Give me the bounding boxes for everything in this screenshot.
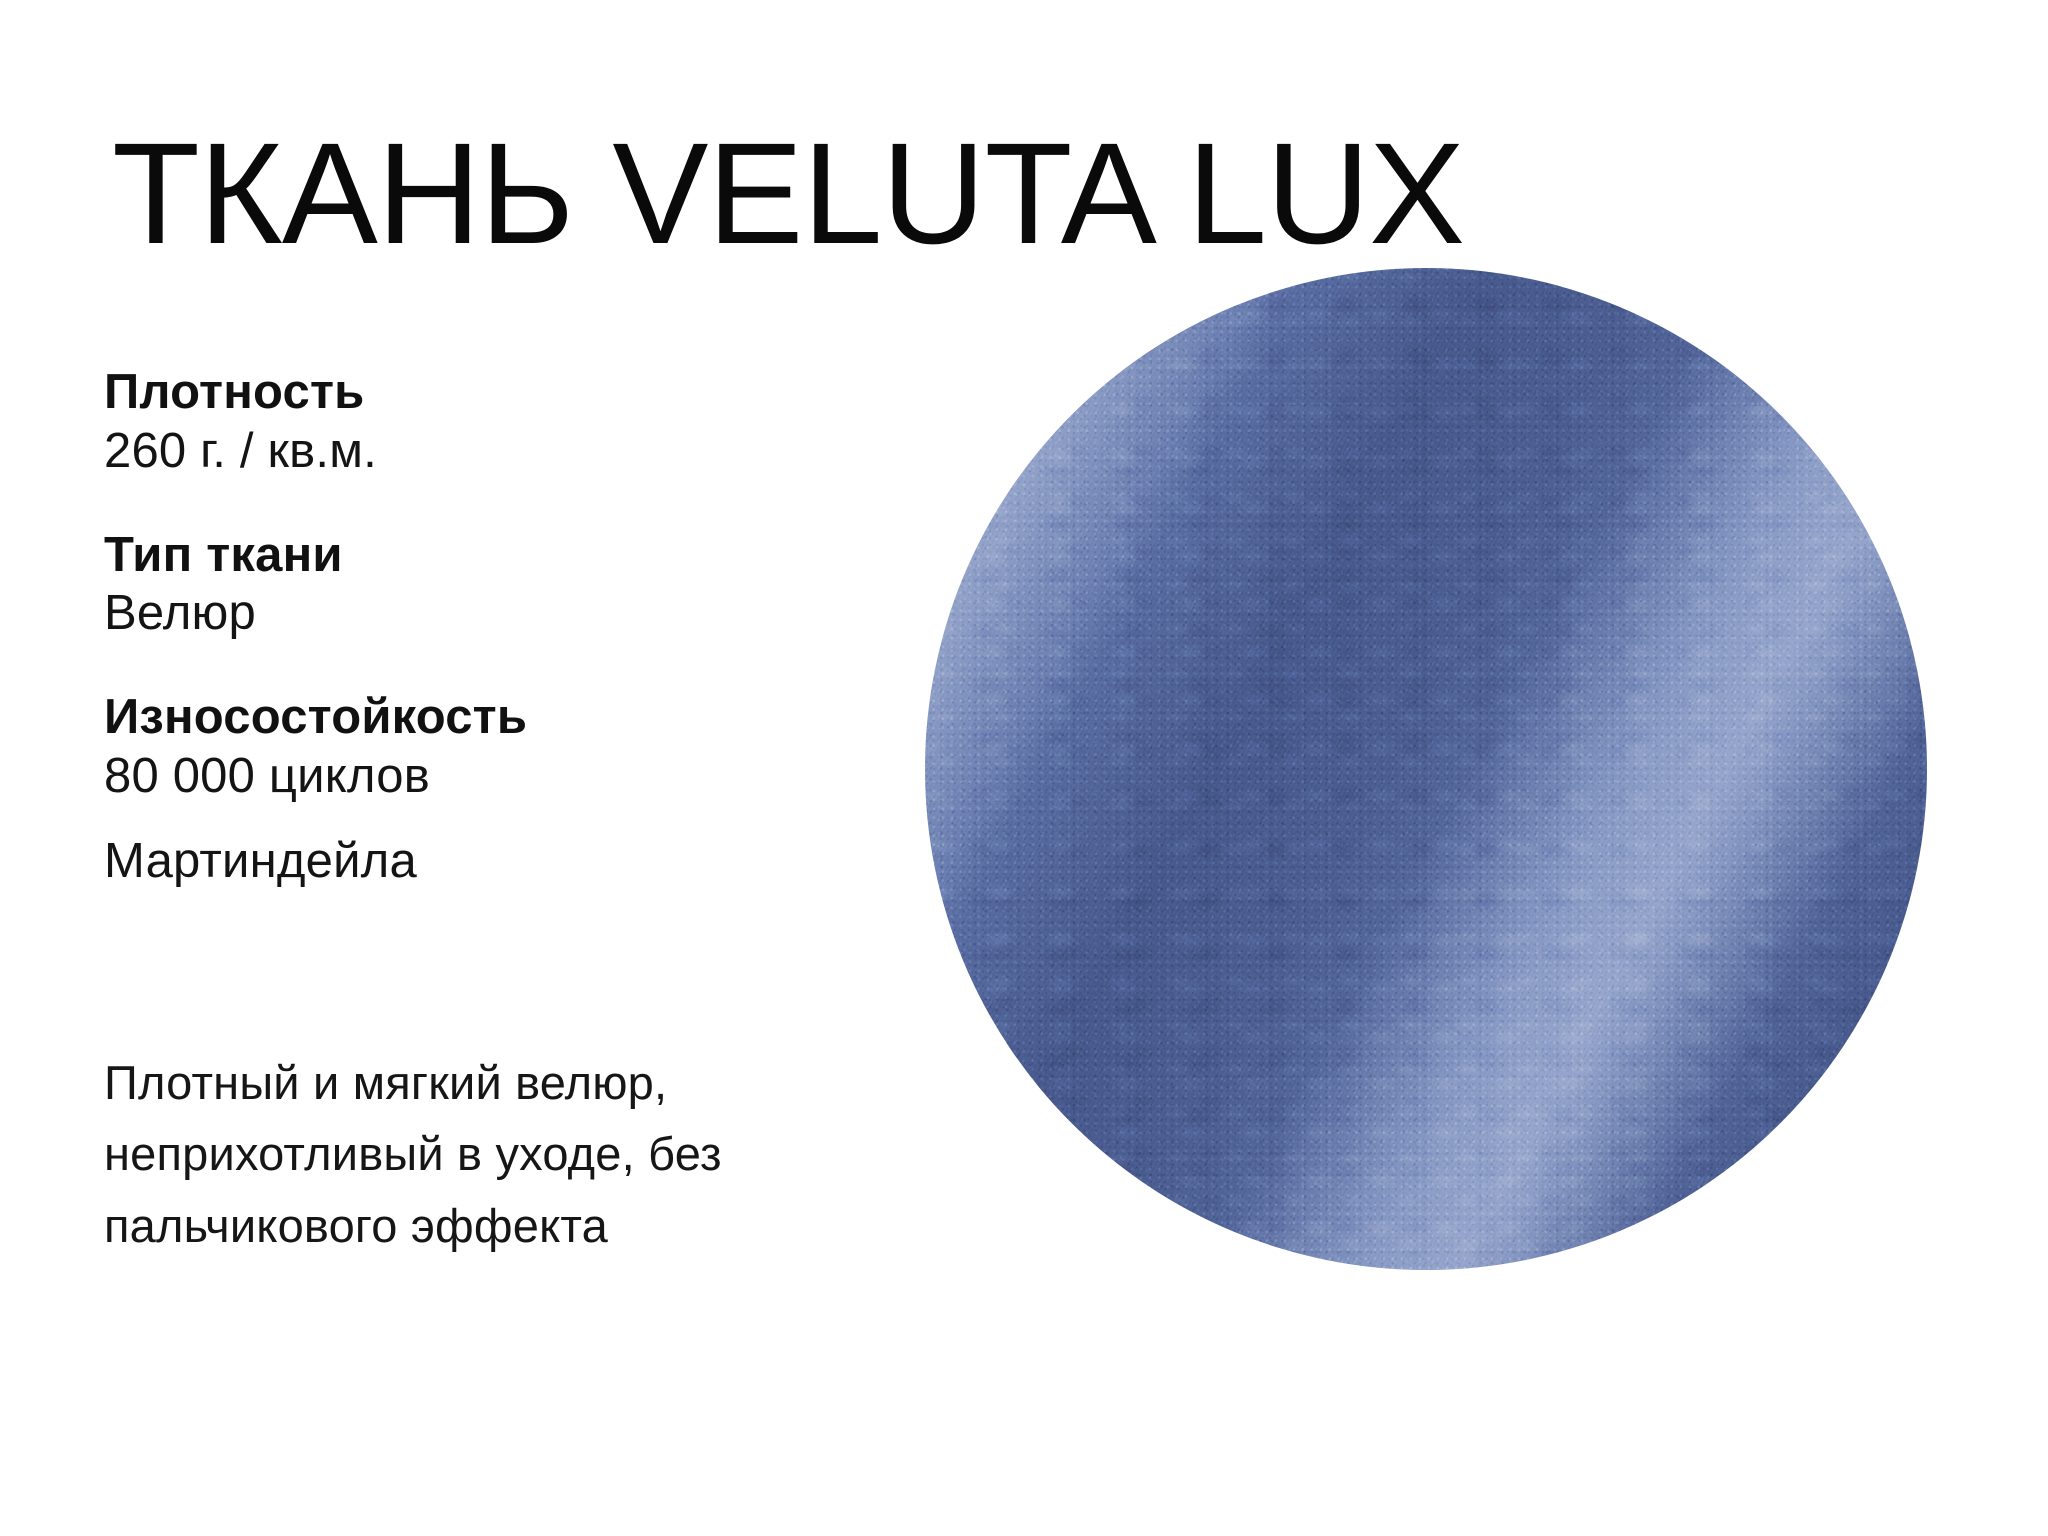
- description-line-1: Плотный и мягкий велюр,: [104, 1047, 934, 1118]
- fabric-vignette: [925, 268, 1927, 1270]
- spec-label-fabric-type: Тип ткани: [104, 527, 934, 585]
- spec-value-durability-standard: Мартиндейла: [104, 832, 934, 891]
- spec-item-fabric-type: Тип ткани Велюр: [104, 527, 934, 644]
- spec-value-durability: 80 000 циклов: [104, 747, 934, 806]
- fabric-info-card: ТКАНЬ VELUTA LUX Плотность 260 г. / кв.м…: [0, 0, 2048, 1536]
- description-line-3: пальчикового эффекта: [104, 1190, 934, 1261]
- spec-label-density: Плотность: [104, 364, 934, 422]
- spec-value-fabric-type: Велюр: [104, 584, 934, 643]
- spec-value-density: 260 г. / кв.м.: [104, 422, 934, 481]
- fabric-swatch-image: [925, 268, 1927, 1270]
- specifications-list: Плотность 260 г. / кв.м. Тип ткани Велюр…: [104, 364, 934, 891]
- description-line-2: неприхотливый в уходе, без: [104, 1118, 934, 1189]
- page-title: ТКАНЬ VELUTA LUX: [112, 118, 1464, 269]
- spec-label-durability: Износостойкость: [104, 689, 934, 747]
- spec-item-durability: Износостойкость 80 000 циклов Мартиндейл…: [104, 689, 934, 890]
- spec-item-density: Плотность 260 г. / кв.м.: [104, 364, 934, 481]
- fabric-description: Плотный и мягкий велюр, неприхотливый в …: [104, 1047, 934, 1261]
